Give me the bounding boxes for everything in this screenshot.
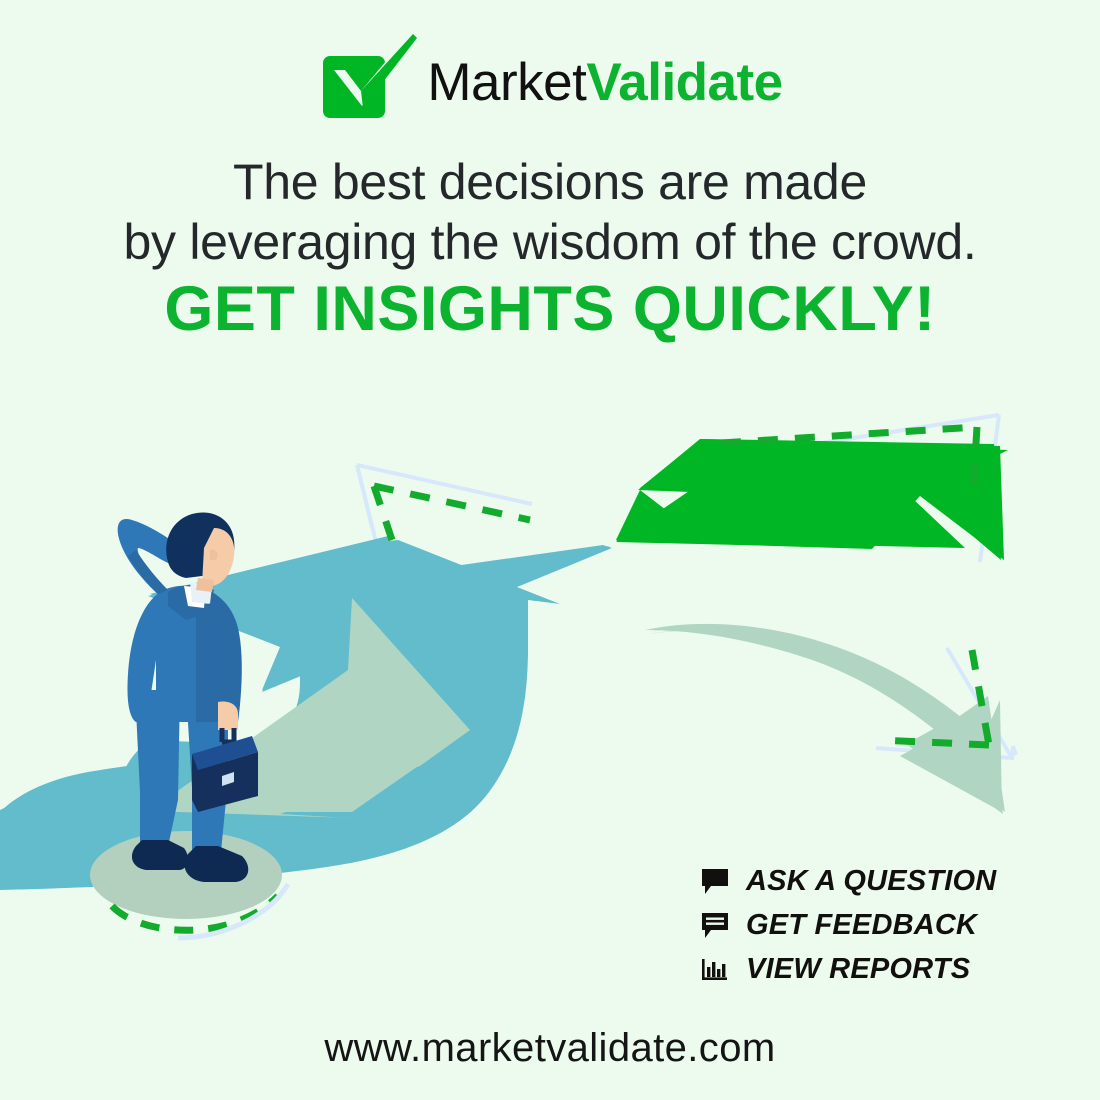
subheadline: GET INSIGHTS QUICKLY! xyxy=(0,276,1100,342)
feature-list: ASK A QUESTION GET FEEDBACK xyxy=(700,862,996,988)
headline-line-1: The best decisions are made xyxy=(0,152,1100,212)
green-success-arrow xyxy=(616,439,1008,560)
headline-block: The best decisions are made by leveragin… xyxy=(0,152,1100,272)
green-checkbox-check-icon xyxy=(317,34,417,126)
feature-label-get-feedback: GET FEEDBACK xyxy=(746,909,977,942)
chat-bubble-lines-icon xyxy=(700,911,730,939)
feature-row-ask-a-question[interactable]: ASK A QUESTION xyxy=(700,862,996,900)
feature-row-view-reports[interactable]: VIEW REPORTS xyxy=(700,950,996,988)
ground-shadow-ellipse xyxy=(90,831,282,919)
brand-name-part-2: Validate xyxy=(586,53,782,112)
neck xyxy=(196,578,214,592)
chat-bubble-filled-icon xyxy=(700,867,730,895)
brand-name-part-1: Market xyxy=(427,53,586,112)
brand-wordmark: MarketValidate xyxy=(427,52,782,109)
poster-canvas: MarketValidate The best decisions are ma… xyxy=(0,0,1100,1100)
feature-row-get-feedback[interactable]: GET FEEDBACK xyxy=(700,906,996,944)
headline-line-2: by leveraging the wisdom of the crowd. xyxy=(0,212,1100,272)
bar-chart-icon xyxy=(700,955,730,983)
brand-logo: MarketValidate xyxy=(0,34,1100,126)
feature-label-ask-a-question: ASK A QUESTION xyxy=(746,865,996,898)
feature-label-view-reports: VIEW REPORTS xyxy=(746,953,970,986)
website-url[interactable]: www.marketvalidate.com xyxy=(0,1026,1100,1071)
